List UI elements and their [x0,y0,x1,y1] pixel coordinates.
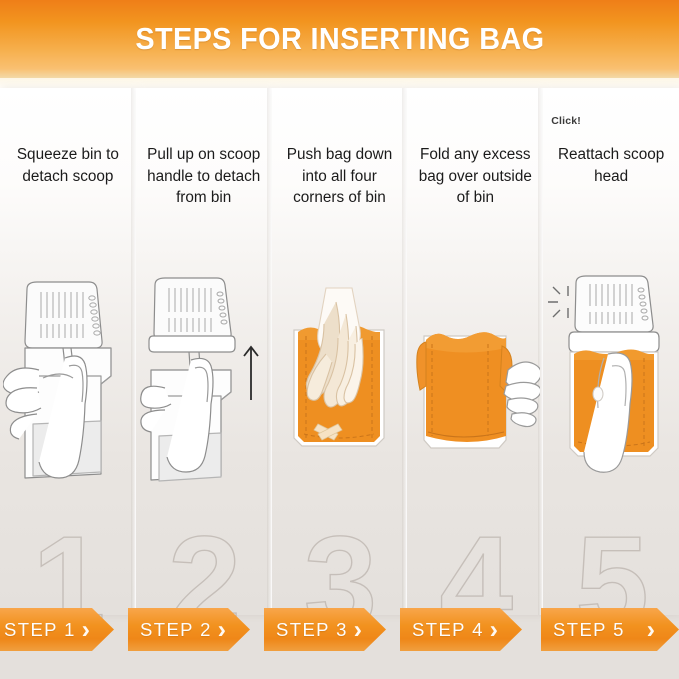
step-panel-2: Pull up on scoop handle to detach from b… [136,88,272,615]
step-banner-label-2: STEP 2 [140,619,212,641]
step-panel-4: Fold any excess bag over outside of bin … [407,88,543,615]
steps-panel-strip: Squeeze bin to detach scoop 1 [0,88,679,615]
step-illustration-3 [272,274,408,509]
bottom-background [0,652,679,679]
up-arrow-icon [244,347,258,400]
chevron-right-icon: › [490,617,498,642]
header-banner: STEPS FOR INSERTING BAG [0,0,679,78]
chevron-right-icon: › [82,617,90,642]
step-caption-5: Reattach scoop head [547,144,675,187]
step-banner-2[interactable]: STEP 2 › [128,608,250,651]
page-title: STEPS FOR INSERTING BAG [135,21,544,57]
step-banner-5[interactable]: STEP 5 › [541,608,679,651]
step-illustration-2 [136,274,272,509]
step-illustration-5 [543,274,679,509]
step-caption-1: Squeeze bin to detach scoop [4,144,132,187]
step-caption-3: Push bag down into all four corners of b… [276,144,404,209]
chevron-right-icon: › [647,617,655,642]
step-illustration-1 [0,274,136,509]
step-illustration-4 [407,274,543,509]
chevron-right-icon: › [354,617,362,642]
steps-infographic: STEPS FOR INSERTING BAG Squeeze bin to d… [0,0,679,679]
step-banner-label-5: STEP 5 [553,619,625,641]
step-caption-4: Fold any excess bag over outside of bin [411,144,539,209]
step-banner-4[interactable]: STEP 4 › [400,608,522,651]
step-banner-1[interactable]: STEP 1 › [0,608,114,651]
step-banner-label-4: STEP 4 [412,619,484,641]
step-banner-row: STEP 1 › STEP 2 › STEP 3 › STEP 4 › STEP… [0,608,679,652]
step-panel-1: Squeeze bin to detach scoop 1 [0,88,136,615]
click-annotation: Click! [551,115,581,127]
chevron-right-icon: › [218,617,226,642]
step-panel-3: Push bag down into all four corners of b… [272,88,408,615]
step-banner-label-1: STEP 1 [4,619,76,641]
step-banner-3[interactable]: STEP 3 › [264,608,386,651]
step-banner-label-3: STEP 3 [276,619,348,641]
step-panel-5: Reattach scoop head 5 Click! [543,88,679,615]
step-caption-2: Pull up on scoop handle to detach from b… [140,144,268,209]
